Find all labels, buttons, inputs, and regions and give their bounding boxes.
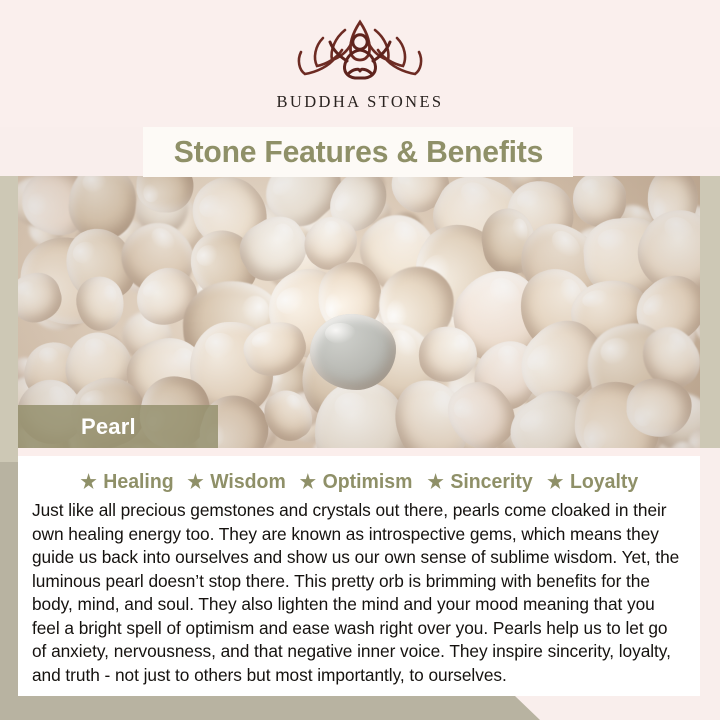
section-title-banner: Stone Features & Benefits bbox=[143, 127, 573, 177]
brand-wordmark: BUDDHA STONES bbox=[276, 92, 443, 112]
lotus-meditation-figure-icon bbox=[285, 14, 435, 86]
stone-name-label: Pearl bbox=[18, 414, 136, 440]
stone-description: Just like all precious gemstones and cry… bbox=[30, 499, 688, 687]
benefit-healing: ★Healing bbox=[80, 470, 173, 494]
pearl-grey-accent bbox=[310, 314, 396, 390]
photo-left-margin bbox=[0, 176, 18, 462]
benefit-label: Loyalty bbox=[570, 470, 638, 494]
star-icon: ★ bbox=[547, 473, 563, 492]
brand-header: BUDDHA STONES bbox=[0, 0, 720, 127]
benefit-sincerity: ★Sincerity bbox=[419, 470, 533, 494]
star-icon: ★ bbox=[427, 473, 443, 492]
stone-name-bar: Pearl bbox=[18, 405, 218, 448]
benefit-label: Wisdom bbox=[210, 470, 286, 494]
benefit-label: Optimism bbox=[323, 470, 413, 494]
benefit-label: Sincerity bbox=[450, 470, 532, 494]
frame-left-border bbox=[0, 462, 18, 720]
content-panel: ★Healing★Wisdom★Optimism★Sincerity★Loyal… bbox=[18, 456, 700, 696]
frame-bottom-border bbox=[0, 696, 540, 720]
benefit-wisdom: ★Wisdom bbox=[179, 470, 286, 494]
benefit-loyalty: ★Loyalty bbox=[538, 470, 638, 494]
benefits-row: ★Healing★Wisdom★Optimism★Sincerity★Loyal… bbox=[30, 470, 688, 494]
star-icon: ★ bbox=[187, 473, 203, 492]
star-icon: ★ bbox=[300, 473, 316, 492]
photo-right-margin bbox=[700, 176, 720, 448]
star-icon: ★ bbox=[80, 473, 96, 492]
benefit-label: Healing bbox=[103, 470, 173, 494]
benefit-optimism: ★Optimism bbox=[291, 470, 412, 494]
page-title: Stone Features & Benefits bbox=[173, 134, 542, 170]
